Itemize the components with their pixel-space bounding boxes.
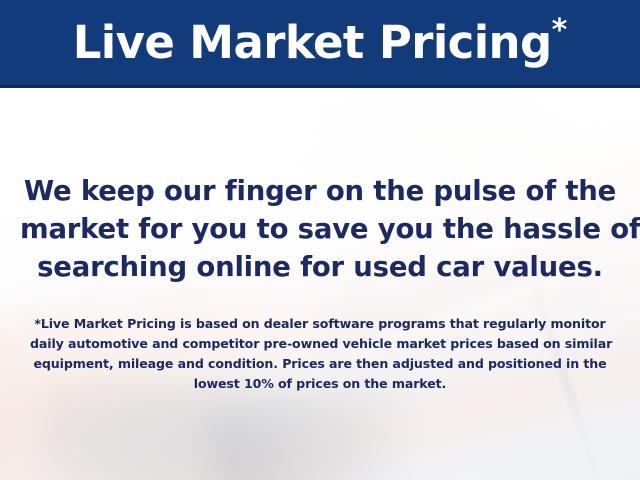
page-title-text: Live Market Pricing — [73, 16, 552, 69]
disclaimer-line-2: daily automotive and competitor pre-owne… — [30, 334, 610, 354]
live-market-pricing-banner: Live Market Pricing* We keep our finger … — [0, 0, 640, 480]
headline-line-1: We keep our finger on the pulse of the — [20, 172, 620, 210]
headline-line-3: searching online for used car values. — [20, 248, 620, 286]
headline-line-2: market for you to save you the hassle of — [20, 210, 620, 248]
disclaimer-line-4: lowest 10% of prices on the market. — [30, 374, 610, 394]
headline: We keep our finger on the pulse of the m… — [20, 172, 620, 286]
header-banner: Live Market Pricing* — [0, 0, 640, 88]
page-title-footnote-marker: * — [552, 13, 568, 48]
disclaimer-line-1: *Live Market Pricing is based on dealer … — [30, 314, 610, 334]
page-title: Live Market Pricing* — [73, 16, 568, 69]
disclaimer-line-3: equipment, mileage and condition. Prices… — [30, 354, 610, 374]
disclaimer: *Live Market Pricing is based on dealer … — [30, 314, 610, 394]
